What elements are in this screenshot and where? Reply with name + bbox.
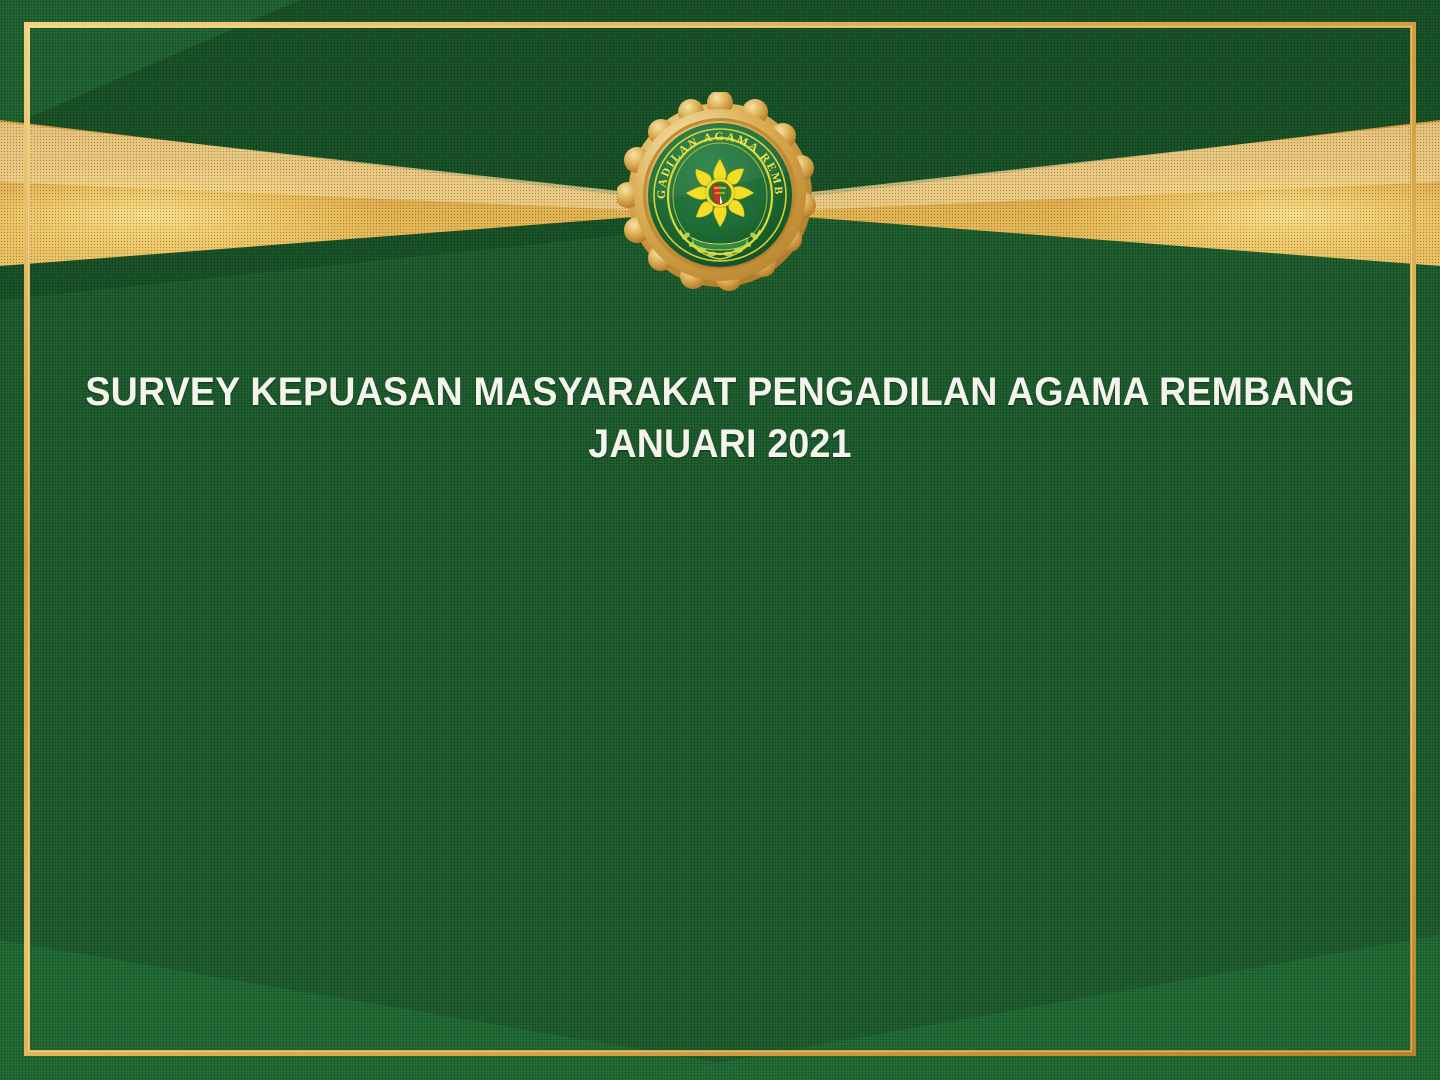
slide-title-line-1: SURVEY KEPUASAN MASYARAKAT PENGADILAN AG… <box>43 366 1397 418</box>
pengadilan-agama-rembang-seal-icon: PENGADILAN AGAMA REMBANG <box>617 92 823 298</box>
seal-sunburst <box>686 159 754 227</box>
slide-title-block: SURVEY KEPUASAN MASYARAKAT PENGADILAN AG… <box>0 366 1440 470</box>
slide-title-line-2: JANUARI 2021 <box>43 418 1397 470</box>
presentation-slide: PENGADILAN AGAMA REMBANG <box>0 0 1440 1080</box>
